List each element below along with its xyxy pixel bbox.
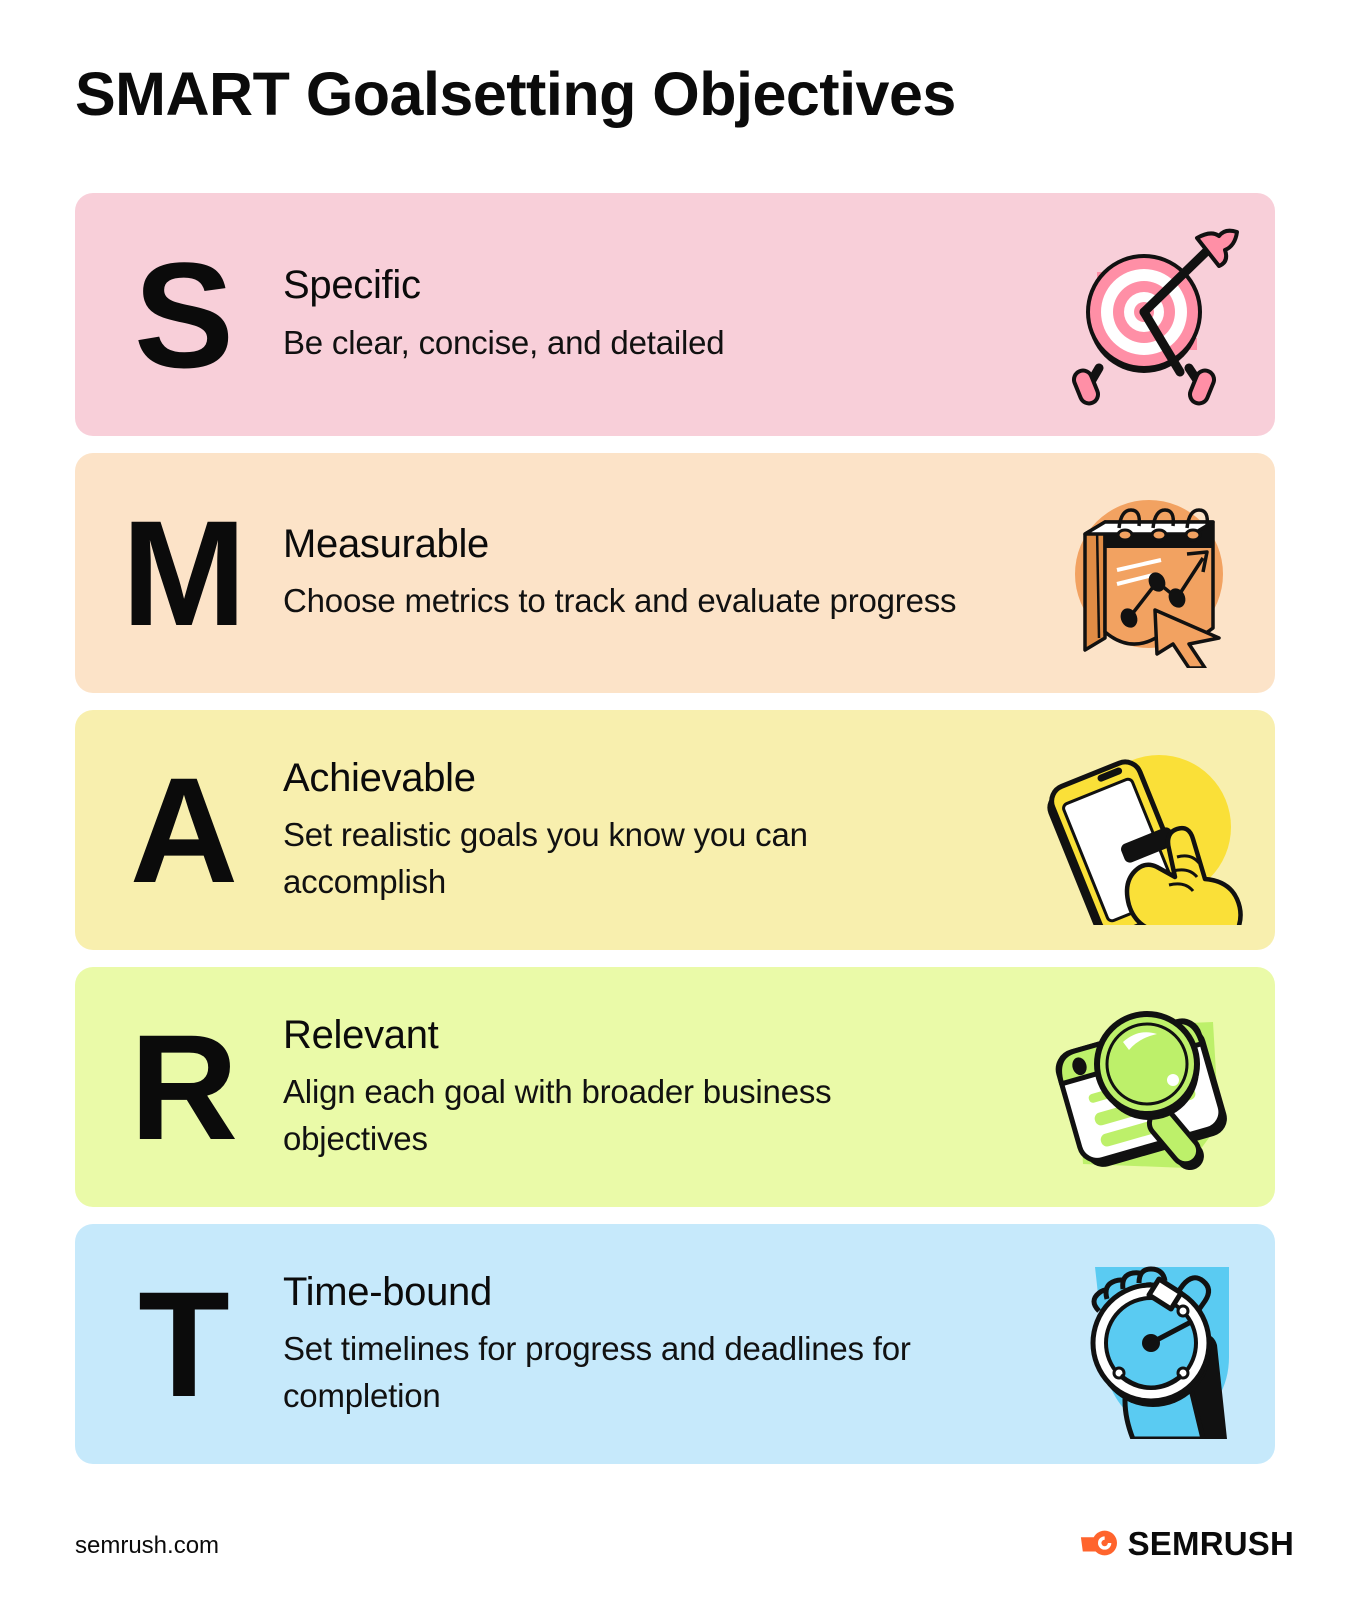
card-description-relevant: Align each goal with broader business ob… bbox=[283, 1069, 963, 1163]
semrush-comet-icon bbox=[1079, 1524, 1117, 1562]
hand-stopwatch-icon bbox=[1037, 1249, 1247, 1439]
magnifier-browser-icon bbox=[1037, 992, 1247, 1182]
card-letter-t: T bbox=[75, 1269, 283, 1419]
card-time-bound: T Time-bound Set timelines for progress … bbox=[75, 1224, 1275, 1464]
card-measurable: M Measurable Choose metrics to track and… bbox=[75, 453, 1275, 693]
target-dartboard-icon bbox=[1037, 220, 1247, 410]
card-title-relevant: Relevant bbox=[283, 1012, 963, 1059]
card-achievable: A Achievable Set realistic goals you kno… bbox=[75, 710, 1275, 950]
infographic-page: SMART Goalsetting Objectives S Specific … bbox=[0, 0, 1372, 1600]
card-description-specific: Be clear, concise, and detailed bbox=[283, 320, 963, 367]
footer: semrush.com SEMRUSH bbox=[0, 1520, 1372, 1580]
card-relevant: R Relevant Align each goal with broader … bbox=[75, 967, 1275, 1207]
card-letter-m: M bbox=[75, 498, 283, 648]
card-description-time-bound: Set timelines for progress and deadlines… bbox=[283, 1326, 963, 1420]
semrush-logo[interactable]: SEMRUSH bbox=[1079, 1524, 1294, 1562]
hand-tapping-phone-icon bbox=[1037, 735, 1247, 925]
card-text-achievable: Achievable Set realistic goals you know … bbox=[283, 755, 983, 906]
card-description-measurable: Choose metrics to track and evaluate pro… bbox=[283, 578, 963, 625]
card-text-measurable: Measurable Choose metrics to track and e… bbox=[283, 521, 983, 625]
calendar-chart-icon bbox=[1037, 478, 1247, 668]
card-text-relevant: Relevant Align each goal with broader bu… bbox=[283, 1012, 983, 1163]
card-text-time-bound: Time-bound Set timelines for progress an… bbox=[283, 1269, 983, 1420]
smart-cards-list: S Specific Be clear, concise, and detail… bbox=[75, 193, 1275, 1464]
card-title-time-bound: Time-bound bbox=[283, 1269, 963, 1316]
card-description-achievable: Set realistic goals you know you can acc… bbox=[283, 812, 963, 906]
card-letter-r: R bbox=[75, 1012, 283, 1162]
card-title-specific: Specific bbox=[283, 262, 963, 309]
card-specific: S Specific Be clear, concise, and detail… bbox=[75, 193, 1275, 436]
footer-url[interactable]: semrush.com bbox=[75, 1532, 219, 1560]
card-title-measurable: Measurable bbox=[283, 521, 963, 568]
card-letter-a: A bbox=[75, 755, 283, 905]
semrush-wordmark: SEMRUSH bbox=[1128, 1527, 1294, 1560]
card-text-specific: Specific Be clear, concise, and detailed bbox=[283, 262, 983, 366]
card-title-achievable: Achievable bbox=[283, 755, 963, 802]
card-letter-s: S bbox=[75, 240, 283, 390]
page-title: SMART Goalsetting Objectives bbox=[75, 62, 956, 128]
